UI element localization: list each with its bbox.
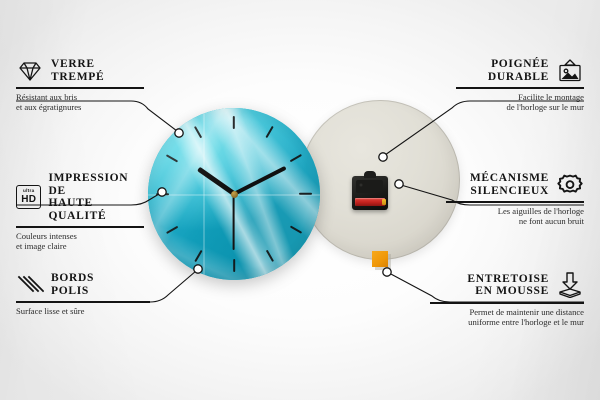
foam-spacer-part	[372, 251, 388, 267]
callout-rule	[456, 87, 584, 89]
ultra-hd-badge-icon: ultra HD	[16, 185, 41, 209]
infographic-canvas: VERRE TREMPÉ Résistant aux bris et aux é…	[0, 0, 600, 400]
callout-description: Couleurs intenses et image claire	[16, 231, 144, 251]
callout-durable-handle: POIGNÉE DURABLE Facilite le montage de l…	[456, 58, 584, 112]
arrow-down-pad-icon	[556, 272, 584, 298]
diagonal-lines-icon	[16, 273, 44, 297]
callout-rule	[16, 87, 144, 89]
callout-description: Résistant aux bris et aux égratignures	[16, 92, 144, 112]
gear-icon	[556, 173, 584, 197]
callout-high-quality-print: ultra HD IMPRESSION DE HAUTE QUALITÉ Cou…	[16, 172, 144, 251]
callout-polished-edges: BORDS POLIS Surface lisse et sûre	[16, 272, 150, 316]
callout-title: MÉCANISME SILENCIEUX	[470, 172, 549, 197]
glass-gloss-overlay	[148, 108, 320, 280]
callout-description: Surface lisse et sûre	[16, 306, 150, 316]
callout-foam-spacer: ENTRETOISE EN MOUSSE Permet de maintenir…	[430, 272, 584, 327]
callout-rule	[430, 302, 584, 304]
callout-title: ENTRETOISE EN MOUSSE	[467, 273, 549, 298]
callout-title: BORDS POLIS	[51, 272, 94, 297]
leader-dot-foam-spacer	[383, 268, 391, 276]
callout-silent-mechanism: MÉCANISME SILENCIEUX Les aiguilles de l'…	[446, 172, 584, 226]
callout-description: Facilite le montage de l'horloge sur le …	[456, 92, 584, 112]
diamond-icon	[16, 59, 44, 83]
callout-description: Permet de maintenir une distance uniform…	[430, 307, 584, 327]
callout-title: IMPRESSION DE HAUTE QUALITÉ	[48, 172, 144, 222]
clock-front-face	[148, 108, 320, 280]
battery	[355, 198, 385, 206]
callout-rule	[16, 226, 144, 228]
callout-head: BORDS POLIS	[16, 272, 150, 297]
mechanism-detail	[356, 180, 383, 193]
callout-rule	[446, 201, 584, 203]
callout-head: VERRE TREMPÉ	[16, 58, 144, 83]
callout-tempered-glass: VERRE TREMPÉ Résistant aux bris et aux é…	[16, 58, 144, 112]
callout-head: POIGNÉE DURABLE	[456, 58, 584, 83]
mechanism-hanging-tab	[364, 171, 376, 178]
callout-title: VERRE TREMPÉ	[51, 58, 104, 83]
callout-head: MÉCANISME SILENCIEUX	[446, 172, 584, 197]
clock-mechanism	[352, 176, 388, 210]
hanging-frame-icon	[556, 59, 584, 83]
callout-rule	[16, 301, 150, 303]
callout-title: POIGNÉE DURABLE	[488, 58, 549, 83]
callout-head: ultra HD IMPRESSION DE HAUTE QUALITÉ	[16, 172, 144, 222]
callout-head: ENTRETOISE EN MOUSSE	[430, 272, 584, 298]
callout-description: Les aiguilles de l'horloge ne font aucun…	[446, 206, 584, 226]
